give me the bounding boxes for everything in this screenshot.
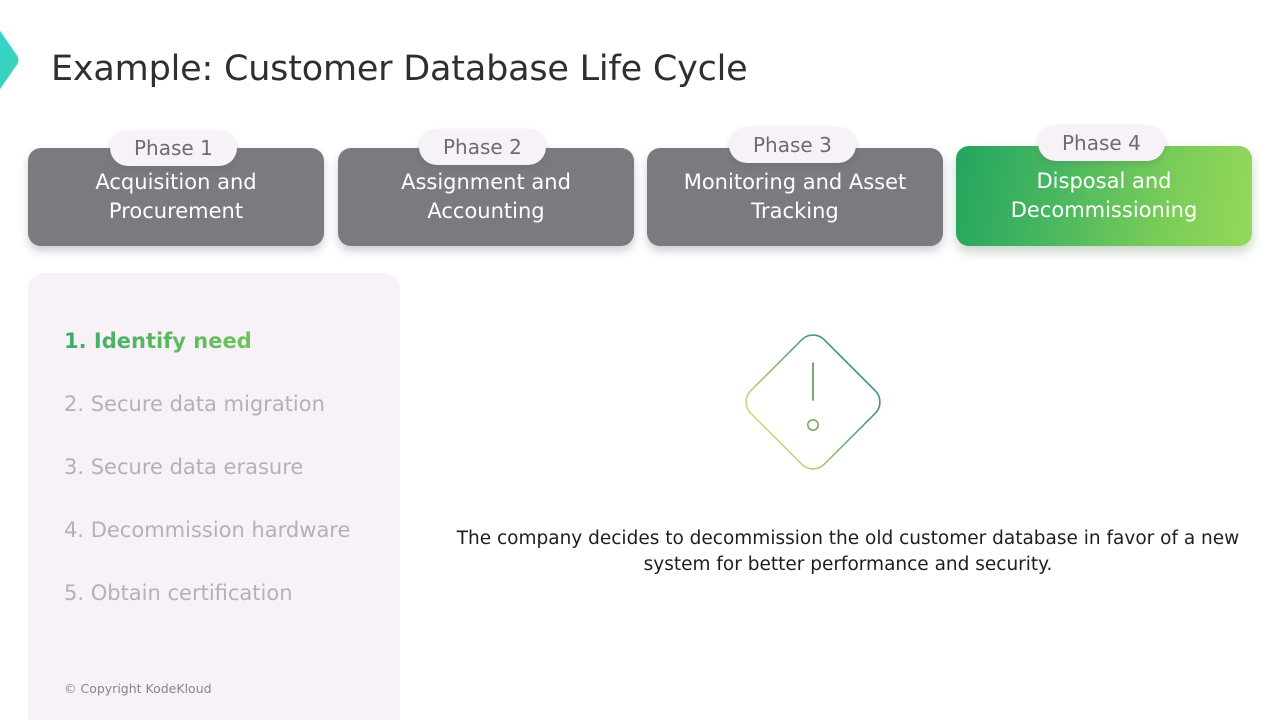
kodekloud-chevron-logo — [0, 10, 34, 110]
phase-card-title: Assignment and Accounting — [348, 168, 624, 226]
phase-badge-1: Phase 1 — [110, 130, 237, 166]
steps-list: 1. Identify need 2. Secure data migratio… — [36, 328, 400, 643]
phase-card-4[interactable]: Disposal and Decommissioning — [956, 146, 1252, 246]
alert-diamond-icon — [738, 325, 888, 479]
phase-badge-3: Phase 3 — [729, 127, 856, 163]
phase-card-title: Acquisition and Procurement — [38, 168, 314, 226]
phase-badge-2: Phase 2 — [419, 129, 546, 165]
phase-card-title: Monitoring and Asset Tracking — [657, 168, 933, 226]
copyright-notice: © Copyright KodeKloud — [64, 681, 212, 696]
steps-sidebar: 1. Identify need 2. Secure data migratio… — [28, 273, 400, 720]
step-list-item-3[interactable]: 3. Secure data erasure — [36, 454, 400, 480]
step-list-item-2[interactable]: 2. Secure data migration — [36, 391, 400, 417]
step-list-item-1[interactable]: 1. Identify need — [36, 328, 400, 354]
step-list-item-4[interactable]: 4. Decommission hardware — [36, 517, 400, 543]
phase-badge-4: Phase 4 — [1038, 125, 1165, 161]
step-list-item-5[interactable]: 5. Obtain certification — [36, 580, 400, 606]
slide-canvas: Example: Customer Database Life Cycle Ac… — [0, 0, 1280, 720]
page-title: Example: Customer Database Life Cycle — [51, 49, 747, 89]
phase-card-title: Disposal and Decommissioning — [966, 167, 1242, 225]
phase-steps-row: Acquisition and Procurement Phase 1 Assi… — [0, 130, 1280, 248]
phase-description-text: The company decides to decommission the … — [448, 526, 1248, 578]
content-area: The company decides to decommission the … — [420, 273, 1280, 720]
